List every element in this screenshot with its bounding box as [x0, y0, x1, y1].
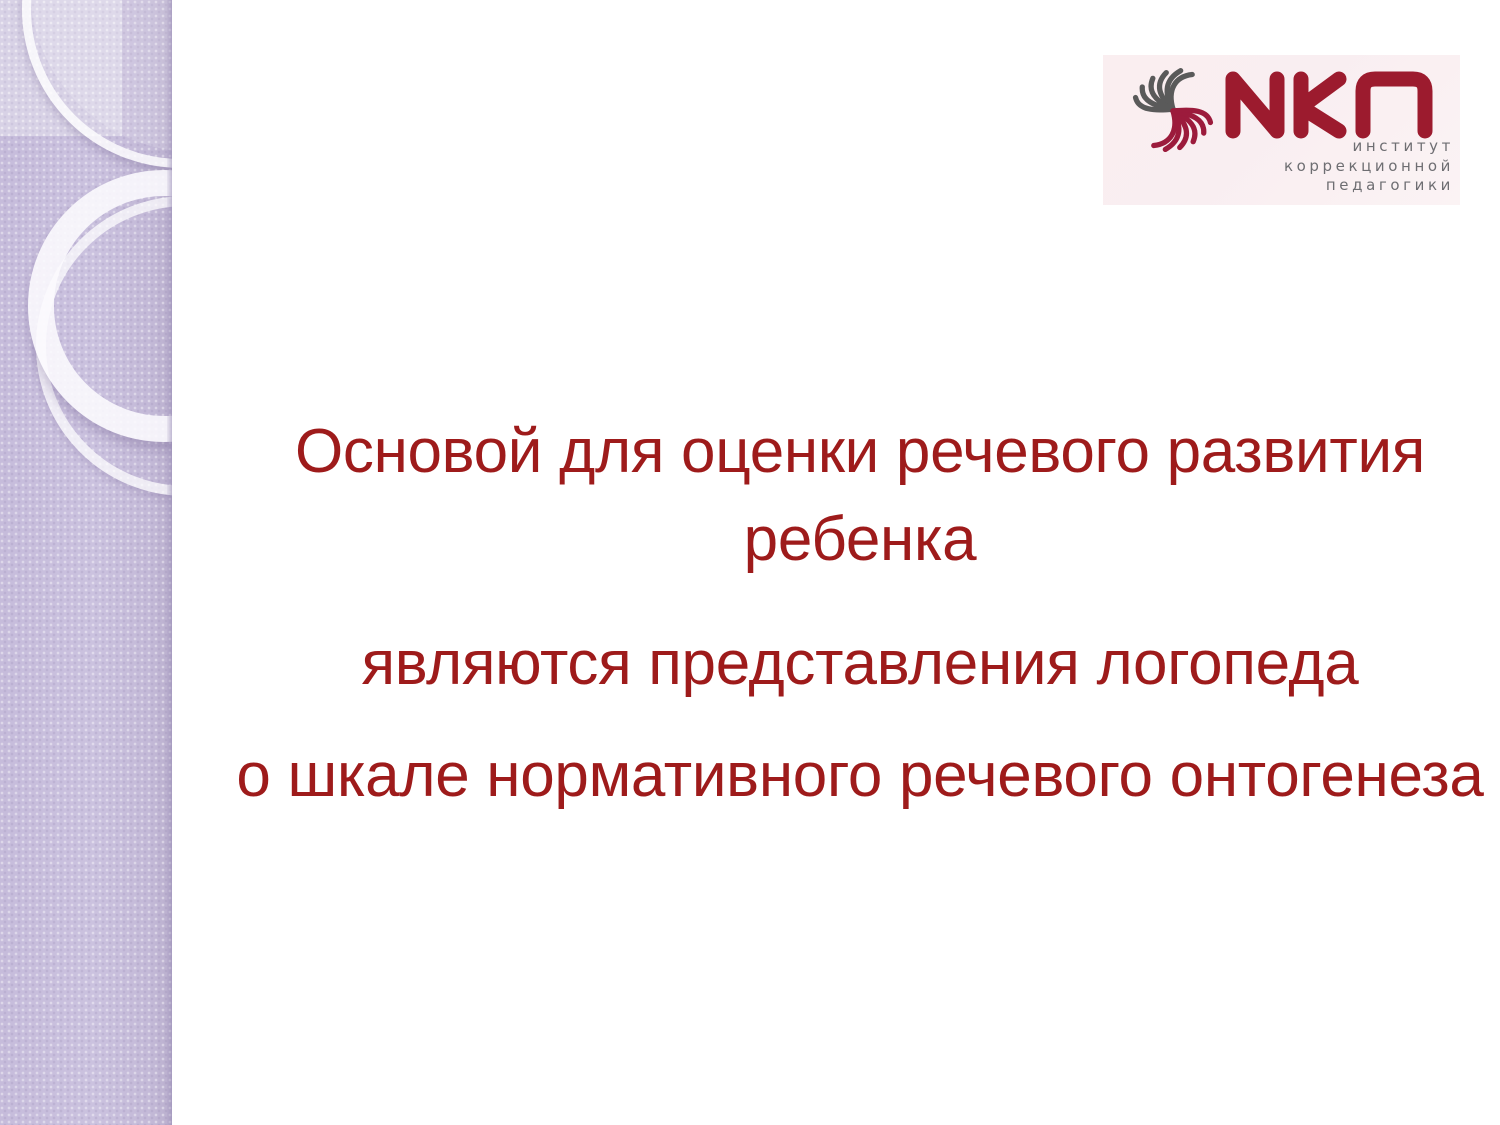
presentation-slide: институт коррекционной педагогики Осново…	[0, 0, 1500, 1125]
logo-caption: институт коррекционной педагогики	[1284, 137, 1454, 196]
sidebar-edge-divider	[167, 0, 172, 1125]
sidebar-thin-ring-icon	[22, 0, 172, 168]
logo-caption-line-2: коррекционной	[1284, 157, 1454, 177]
logo-caption-line-3: педагогики	[1284, 176, 1454, 196]
slide-body-text: Основой для оценки речевого развития реб…	[236, 408, 1484, 820]
body-paragraph-3: о шкале нормативного речевого онтогенеза	[236, 732, 1484, 820]
logo-caption-line-1: институт	[1284, 137, 1454, 157]
body-paragraph-1: Основой для оценки речевого развития реб…	[236, 408, 1484, 584]
body-paragraph-2: являются представления логопеда	[236, 620, 1484, 708]
institute-logo: институт коррекционной педагогики	[1103, 55, 1460, 205]
decorative-sidebar	[0, 0, 172, 1125]
logo-inner: институт коррекционной педагогики	[1103, 55, 1460, 205]
swirl-icon	[1125, 63, 1221, 159]
ikp-wordmark-icon	[1221, 65, 1449, 143]
